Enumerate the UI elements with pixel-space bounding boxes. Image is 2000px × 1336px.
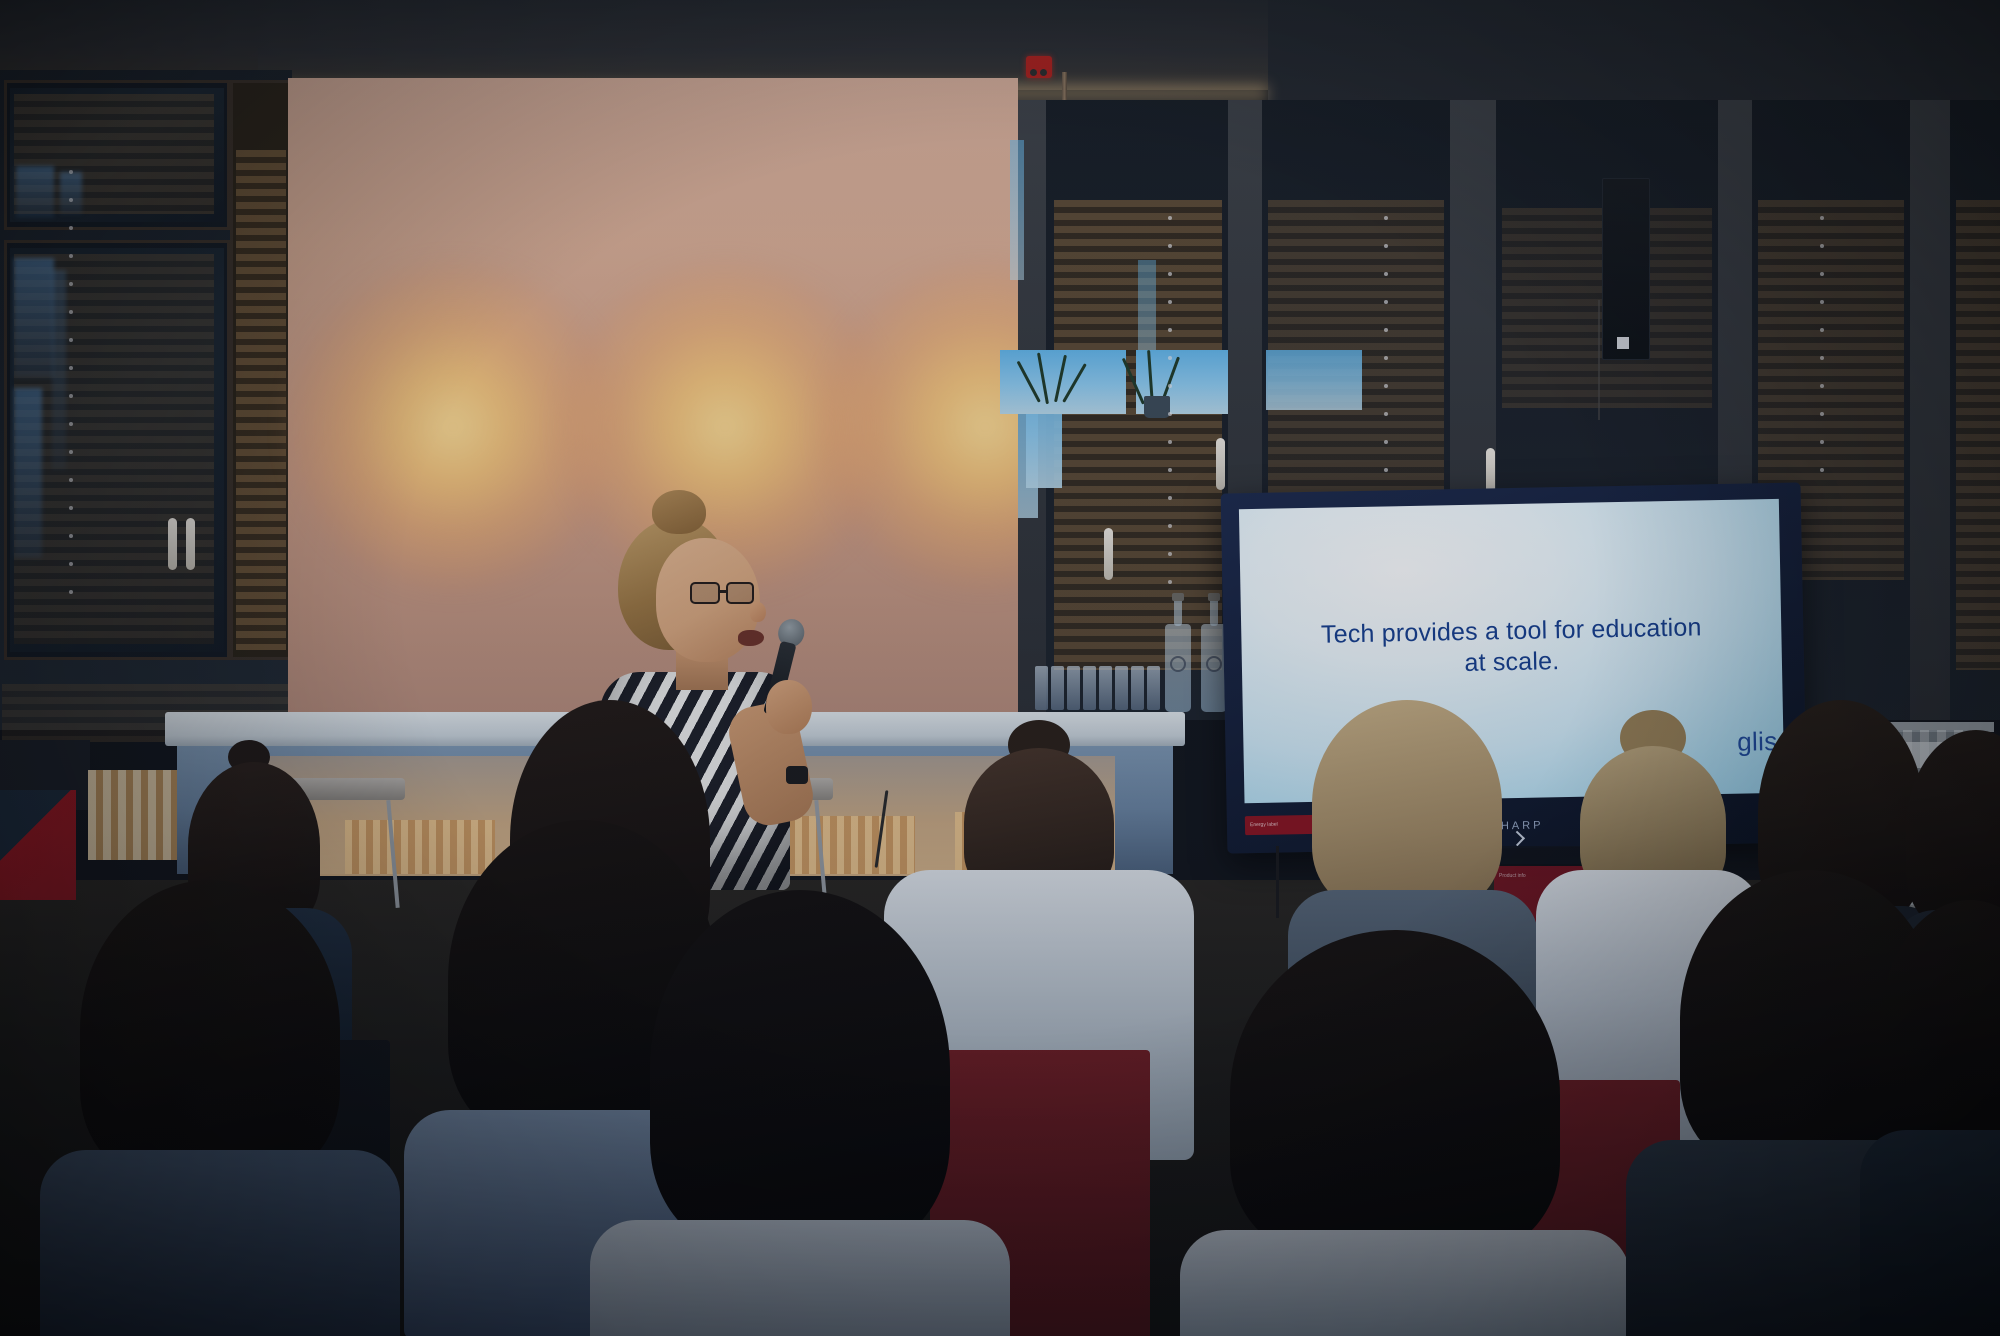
drinking-glasses — [1035, 666, 1160, 710]
window-bank-left — [0, 70, 292, 730]
window-handle[interactable] — [1216, 438, 1225, 490]
window-handle[interactable] — [1104, 528, 1113, 580]
presenter-hair-bun — [652, 490, 706, 534]
water-bottle — [1165, 624, 1191, 712]
blind-cord-dots — [69, 170, 73, 630]
audience-member — [1880, 900, 2000, 1336]
photo-scene: Tech provides a tool for education at sc… — [0, 0, 2000, 1336]
speaker-cable — [1598, 300, 1600, 420]
audience-member — [1190, 930, 1620, 1336]
slide-text: Tech provides a tool for education at sc… — [1273, 611, 1749, 683]
display-cable — [1276, 846, 1279, 918]
audience-member — [590, 890, 1010, 1336]
speaker-icon — [1602, 178, 1650, 360]
red-poster — [0, 790, 76, 900]
presentation-clicker-icon[interactable] — [786, 766, 808, 784]
glasses-icon — [690, 582, 762, 604]
fire-alarm-icon — [1026, 56, 1052, 78]
window-handle[interactable] — [168, 518, 177, 570]
audience-member — [70, 880, 370, 1336]
window-handle[interactable] — [186, 518, 195, 570]
